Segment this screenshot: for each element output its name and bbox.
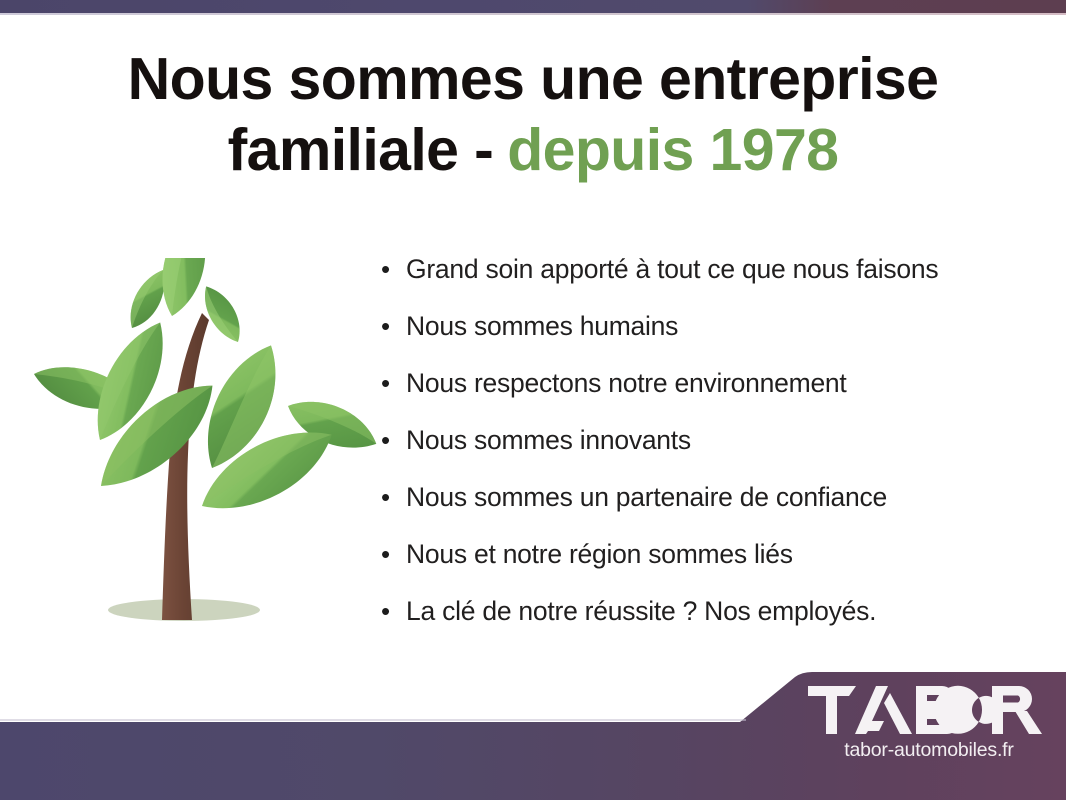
value-bullet-list: • Grand soin apporté à tout ce que nous … bbox=[378, 254, 1018, 653]
top-accent-bar bbox=[0, 0, 1066, 13]
bullet-marker-icon: • bbox=[378, 539, 406, 569]
list-item-label: Nous sommes un partenaire de confiance bbox=[406, 482, 1018, 512]
bullet-marker-icon: • bbox=[378, 254, 406, 284]
top-accent-bar-hairline bbox=[0, 13, 1066, 15]
list-item: • Nous sommes un partenaire de confiance bbox=[378, 482, 1018, 539]
logo-wordmark-tabor bbox=[806, 684, 1044, 736]
list-item-label: Nous sommes humains bbox=[406, 311, 1018, 341]
bullet-marker-icon: • bbox=[378, 596, 406, 626]
page-title-line-1: Nous sommes une entreprise bbox=[0, 44, 1066, 115]
list-item: • Grand soin apporté à tout ce que nous … bbox=[378, 254, 1018, 311]
list-item-label: Nous sommes innovants bbox=[406, 425, 1018, 455]
footer-hairline bbox=[0, 719, 746, 721]
list-item-label: Grand soin apporté à tout ce que nous fa… bbox=[406, 254, 1018, 284]
bullet-marker-icon: • bbox=[378, 482, 406, 512]
list-item: • Nous et notre région sommes liés bbox=[378, 539, 1018, 596]
page-title-line-2-green: depuis 1978 bbox=[507, 117, 838, 183]
list-item-label: Nous et notre région sommes liés bbox=[406, 539, 1018, 569]
tree-illustration bbox=[16, 258, 382, 650]
page-title-line-2: familiale -depuis 1978 bbox=[0, 115, 1066, 186]
bullet-marker-icon: • bbox=[378, 368, 406, 398]
page-title: Nous sommes une entreprise familiale -de… bbox=[0, 44, 1066, 186]
brand-logo[interactable]: tabor-automobiles.fr bbox=[806, 684, 1046, 778]
list-item-label: La clé de notre réussite ? Nos employés. bbox=[406, 596, 1018, 626]
list-item: • Nous sommes humains bbox=[378, 311, 1018, 368]
list-item-label: Nous respectons notre environnement bbox=[406, 368, 1018, 398]
page-title-line-2-black: familiale - bbox=[228, 117, 494, 183]
list-item: • Nous sommes innovants bbox=[378, 425, 1018, 482]
bullet-marker-icon: • bbox=[378, 425, 406, 455]
list-item: • Nous respectons notre environnement bbox=[378, 368, 1018, 425]
list-item: • La clé de notre réussite ? Nos employé… bbox=[378, 596, 1018, 653]
slide-canvas: Nous sommes une entreprise familiale -de… bbox=[0, 0, 1066, 800]
logo-tagline: tabor-automobiles.fr bbox=[812, 738, 1046, 762]
tree-trunk bbox=[162, 313, 209, 620]
leaf-small-top-right bbox=[196, 280, 248, 348]
bullet-marker-icon: • bbox=[378, 311, 406, 341]
